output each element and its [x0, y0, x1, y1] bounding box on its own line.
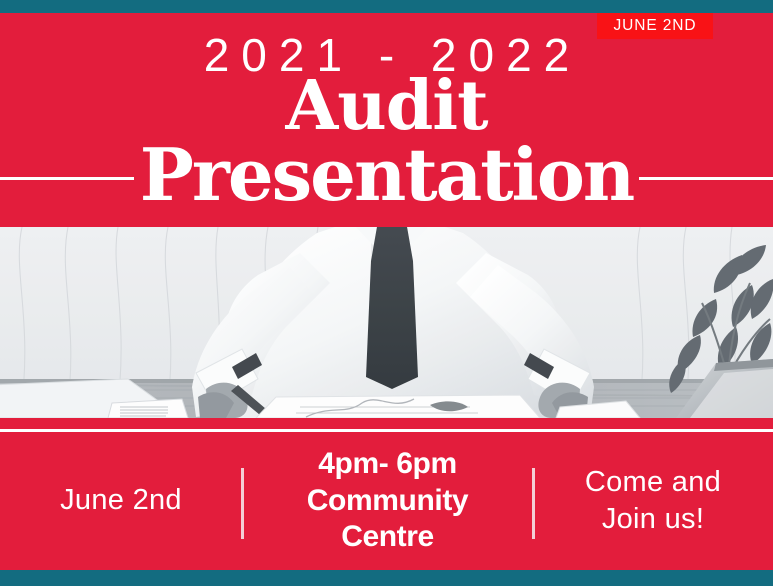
top-accent-bar: [0, 0, 773, 13]
cta-line-1: Come and: [585, 464, 721, 501]
info-column-cta: Come and Join us!: [533, 464, 773, 538]
hero-photo-illustration: [0, 227, 773, 418]
venue-line-2: Centre: [341, 519, 434, 556]
date-badge-label: JUNE 2ND: [614, 17, 697, 35]
event-flyer: JUNE 2ND 2021 - 2022 Audit Presentation: [0, 0, 773, 586]
venue-line-1: Community: [307, 483, 468, 520]
flyer-header: JUNE 2ND 2021 - 2022 Audit Presentation: [0, 13, 773, 227]
date-badge: JUNE 2ND: [597, 12, 713, 39]
flyer-info-band: June 2nd 4pm- 6pm Community Centre Come …: [0, 418, 773, 570]
event-date: June 2nd: [60, 482, 182, 519]
cta-line-2: Join us!: [602, 501, 704, 538]
bottom-accent-bar: [0, 570, 773, 586]
info-column-venue: 4pm- 6pm Community Centre: [242, 446, 533, 556]
info-divider-right: [532, 468, 535, 539]
title-line-2: Presentation: [0, 139, 773, 211]
title-line-1: Audit: [0, 72, 773, 140]
hero-photo: [0, 227, 773, 418]
info-column-date: June 2nd: [0, 482, 242, 519]
event-time: 4pm- 6pm: [318, 446, 457, 483]
info-columns: June 2nd 4pm- 6pm Community Centre Come …: [0, 432, 773, 570]
info-divider-left: [241, 468, 244, 539]
